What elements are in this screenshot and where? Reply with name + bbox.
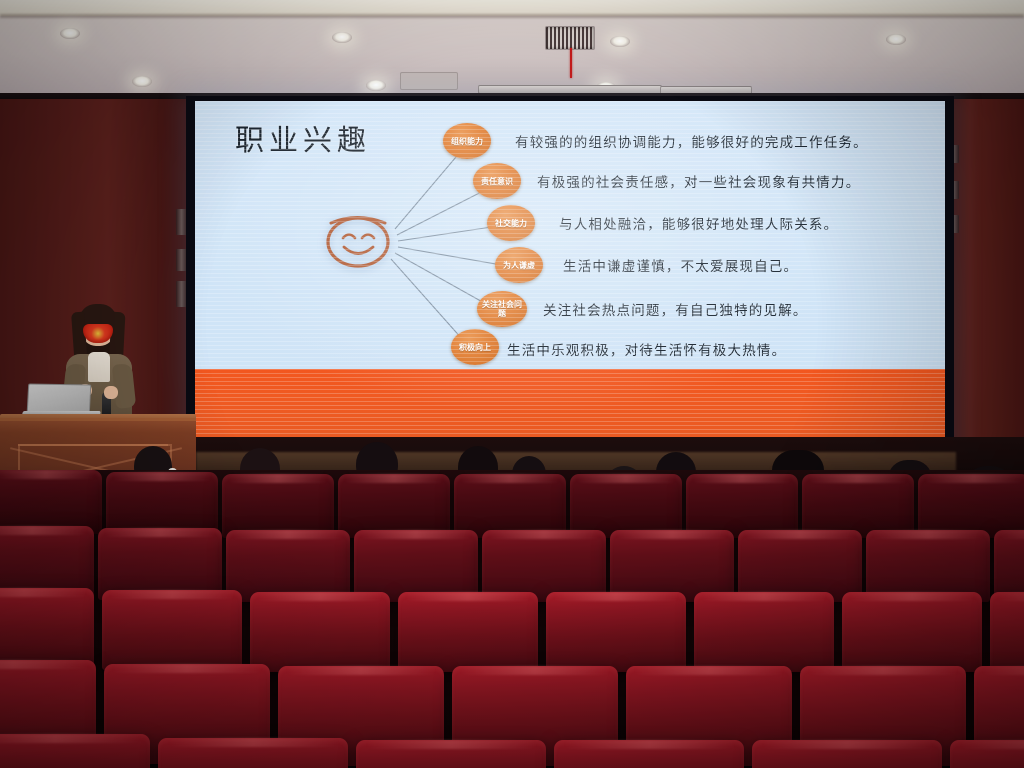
seat — [918, 474, 1024, 538]
bubble-label: 组织能力 — [447, 137, 487, 146]
slide-item-bubble: 关注社会问题 — [477, 291, 527, 327]
slide-item-bubble: 组织能力 — [443, 123, 491, 159]
ceiling-cornice-shadow — [0, 14, 1024, 18]
seat — [158, 738, 348, 768]
ceiling-downlight — [610, 36, 630, 47]
slide-item-bubble: 社交能力 — [487, 205, 535, 241]
seat — [802, 474, 914, 538]
slide-item-text: 生活中谦虚谨慎，不太爱展现自己。 — [563, 255, 798, 275]
ceiling-downlight — [886, 34, 906, 45]
ceiling-downlight — [132, 76, 152, 87]
slide-item-text: 与人相处融洽，能够很好地处理人际关系。 — [559, 213, 838, 233]
seat — [102, 590, 242, 670]
slide-item-text: 有较强的的组织协调能力，能够很好的完成工作任务。 — [515, 131, 868, 151]
slide-item-bubble: 责任意识 — [473, 163, 521, 199]
seat — [222, 474, 334, 538]
bubble-label: 责任意识 — [477, 177, 517, 186]
slide-item-bubble: 为人谦虚 — [495, 247, 543, 283]
seat — [694, 592, 834, 672]
seat — [842, 592, 982, 672]
seat — [0, 734, 150, 768]
lecture-hall-photo: 职业兴趣 组织能力 — [0, 0, 1024, 768]
ceiling-vent-slot — [400, 72, 458, 90]
smiley-face-icon — [319, 204, 397, 270]
seat — [0, 470, 102, 534]
seat — [454, 474, 566, 538]
bubble-label: 关注社会问题 — [477, 300, 527, 318]
slide-item-bubble: 积极向上 — [451, 329, 499, 365]
presenter-hand-right — [104, 386, 118, 399]
ceiling-air-vent — [545, 26, 595, 50]
bubble-label: 社交能力 — [491, 219, 531, 228]
seat — [398, 592, 538, 672]
ceiling-downlight — [60, 28, 80, 39]
seat — [950, 740, 1024, 768]
slide-item-text: 生活中乐观积极，对待生活怀有极大热情。 — [507, 339, 786, 359]
presenter-arm-right — [112, 363, 136, 409]
seat — [686, 474, 798, 538]
seat — [338, 474, 450, 538]
bubble-label: 为人谦虚 — [499, 261, 539, 270]
seat — [554, 740, 744, 768]
red-ribbon-streamer — [570, 48, 572, 78]
slide-item-text: 有极强的社会责任感，对一些社会现象有共情力。 — [537, 171, 860, 191]
seat — [570, 474, 682, 538]
seat — [356, 740, 546, 768]
seat — [990, 592, 1024, 672]
seat — [752, 740, 942, 768]
seat — [250, 592, 390, 672]
slide-item-text: 关注社会热点问题，有自己独特的见解。 — [543, 299, 808, 319]
seat — [0, 588, 94, 668]
back-wall-right-panel — [946, 99, 1024, 467]
bubble-label: 积极向上 — [455, 343, 495, 352]
ceiling-downlight — [332, 32, 352, 43]
seat — [106, 472, 218, 536]
projection-screen: 职业兴趣 组织能力 — [195, 101, 945, 449]
presenter-shirt — [88, 352, 110, 382]
seat — [546, 592, 686, 672]
ceiling-downlight — [366, 80, 386, 91]
auditorium-seating — [0, 470, 1024, 768]
ceiling — [0, 0, 1024, 98]
